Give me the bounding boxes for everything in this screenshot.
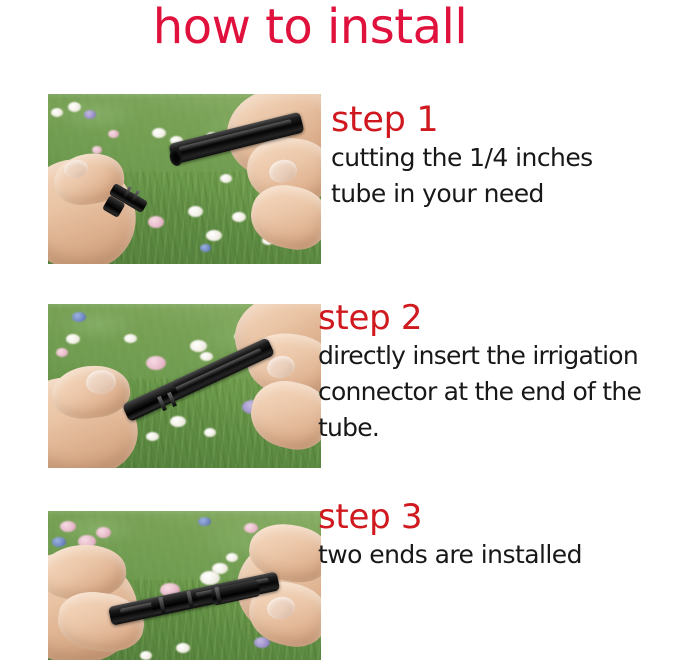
flower-icon — [188, 206, 203, 217]
flower-icon — [200, 352, 213, 361]
photo-scene — [48, 304, 321, 468]
flower-icon — [56, 348, 68, 357]
flower-icon — [68, 102, 81, 112]
step-text-2: step 2 directly insert the irrigation co… — [318, 298, 679, 446]
flower-icon — [66, 334, 80, 344]
flower-icon — [146, 432, 159, 441]
step-photo-2 — [48, 304, 321, 468]
flower-icon — [146, 356, 166, 370]
flower-icon — [60, 521, 76, 532]
flower-icon — [190, 340, 207, 352]
flower-icon — [140, 651, 152, 660]
step-photo-3 — [48, 511, 321, 660]
step-text-1: step 1 cutting the 1/4 inches tube in yo… — [331, 100, 671, 212]
flower-icon — [124, 334, 137, 343]
flower-icon — [152, 128, 166, 138]
flower-icon — [96, 527, 111, 538]
flower-icon — [244, 523, 258, 533]
page-title: how to install — [0, 0, 620, 56]
flower-icon — [220, 174, 232, 183]
flower-icon — [198, 517, 211, 526]
photo-scene — [48, 94, 321, 264]
step-body-1: cutting the 1/4 inches tube in your need — [331, 140, 671, 212]
step-heading-2: step 2 — [318, 298, 679, 338]
photo-scene — [48, 511, 321, 660]
step-text-3: step 3 two ends are installed — [318, 497, 679, 573]
flower-icon — [52, 537, 66, 547]
flower-icon — [148, 216, 164, 228]
flower-icon — [51, 108, 63, 117]
flower-icon — [206, 230, 222, 241]
flower-icon — [108, 130, 119, 138]
flower-icon — [200, 244, 211, 252]
step-heading-3: step 3 — [318, 497, 679, 537]
step-body-3: two ends are installed — [318, 537, 679, 573]
flower-icon — [226, 553, 238, 562]
flower-icon — [176, 643, 190, 653]
flower-icon — [170, 416, 186, 427]
step-body-2: directly insert the irrigation connector… — [318, 338, 679, 446]
flower-icon — [72, 312, 86, 322]
flower-icon — [232, 212, 246, 222]
flower-icon — [204, 428, 216, 437]
step-photo-1 — [48, 94, 321, 264]
flower-icon — [84, 110, 96, 119]
step-heading-1: step 1 — [331, 100, 671, 140]
